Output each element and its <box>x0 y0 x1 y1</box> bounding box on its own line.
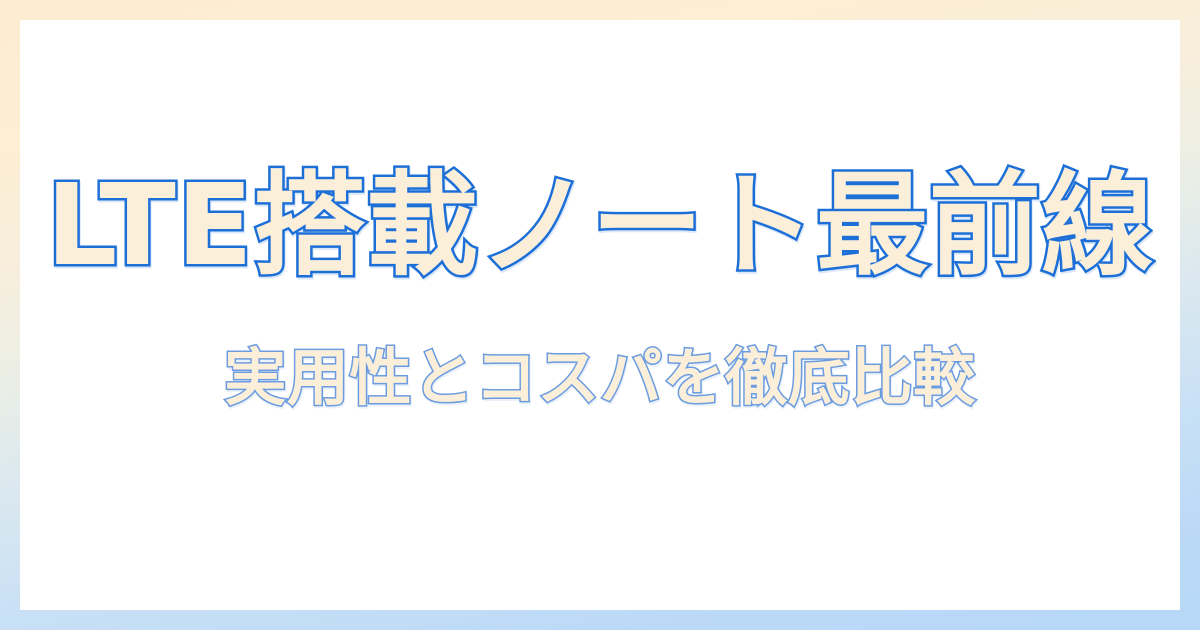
banner-subtitle: 実用性とコスパを徹底比較 <box>224 344 975 412</box>
subtitle-container: 実用性とコスパを徹底比較 <box>20 344 1180 412</box>
ogp-banner: LTE搭載ノート最前線 実用性とコスパを徹底比較 <box>0 0 1200 630</box>
banner-title: LTE搭載ノート最前線 <box>46 168 1154 286</box>
title-container: LTE搭載ノート最前線 <box>20 168 1180 286</box>
banner-card: LTE搭載ノート最前線 実用性とコスパを徹底比較 <box>20 20 1180 610</box>
